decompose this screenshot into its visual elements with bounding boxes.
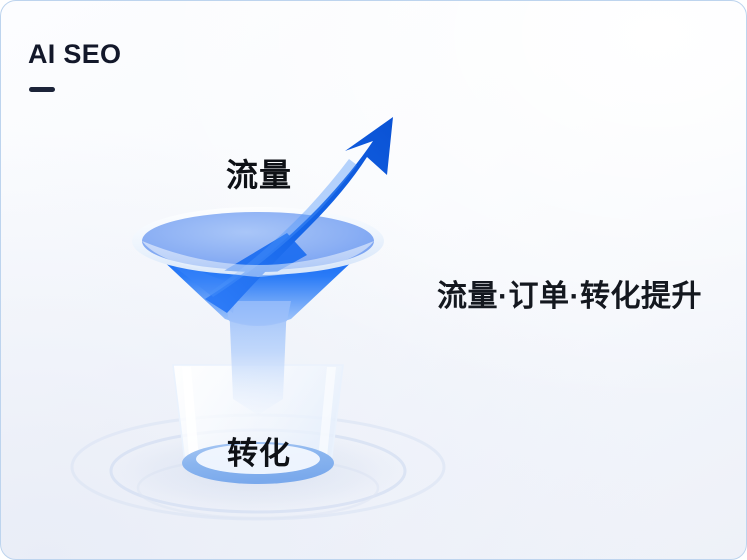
funnel-label-conversion: 转化 (227, 438, 291, 469)
tagline-text: 流量·订单·转化提升 (437, 279, 702, 315)
funnel-label-traffic: 流量 (226, 159, 292, 191)
ai-seo-banner-card: AI SEO (0, 0, 747, 560)
